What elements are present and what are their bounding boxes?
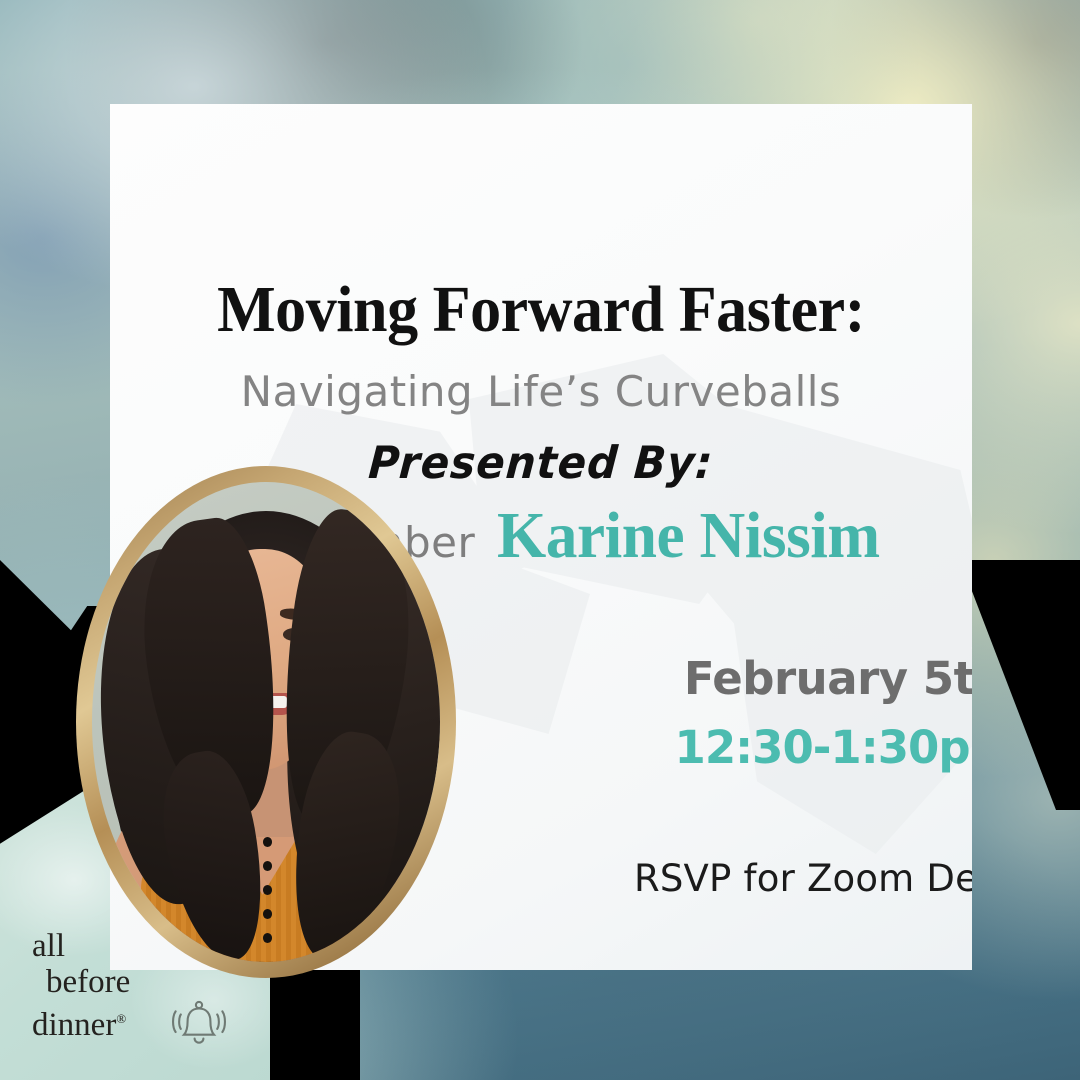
registered-trademark-symbol: ® (116, 1011, 126, 1026)
event-subtitle: Navigating Life’s Curveballs (110, 367, 972, 416)
garment-button (263, 885, 272, 895)
event-date: February 5th (600, 652, 972, 705)
logo-line-before: before (46, 966, 130, 999)
logo-line-dinner: dinner® (32, 1002, 126, 1042)
logo-dinner-word: dinner (32, 1007, 116, 1043)
event-flyer-poster: Moving Forward Faster: Navigating Life’s… (0, 0, 1080, 1080)
rsvp-note: RSVP for Zoom Details (600, 857, 972, 900)
brand-logo[interactable]: all before dinner® (26, 926, 236, 1056)
portrait-photo (92, 482, 440, 962)
event-time: 12:30-1:30pm (600, 721, 972, 774)
speaker-portrait (76, 466, 456, 978)
garment-button (263, 933, 272, 943)
garment-button (263, 861, 272, 871)
garment-button (263, 909, 272, 919)
garment-button (263, 837, 272, 847)
event-title: Moving Forward Faster: (136, 272, 946, 348)
bell-icon (166, 998, 232, 1054)
speaker-name: Karine Nissim (497, 498, 880, 574)
logo-line-all: all (32, 930, 65, 963)
